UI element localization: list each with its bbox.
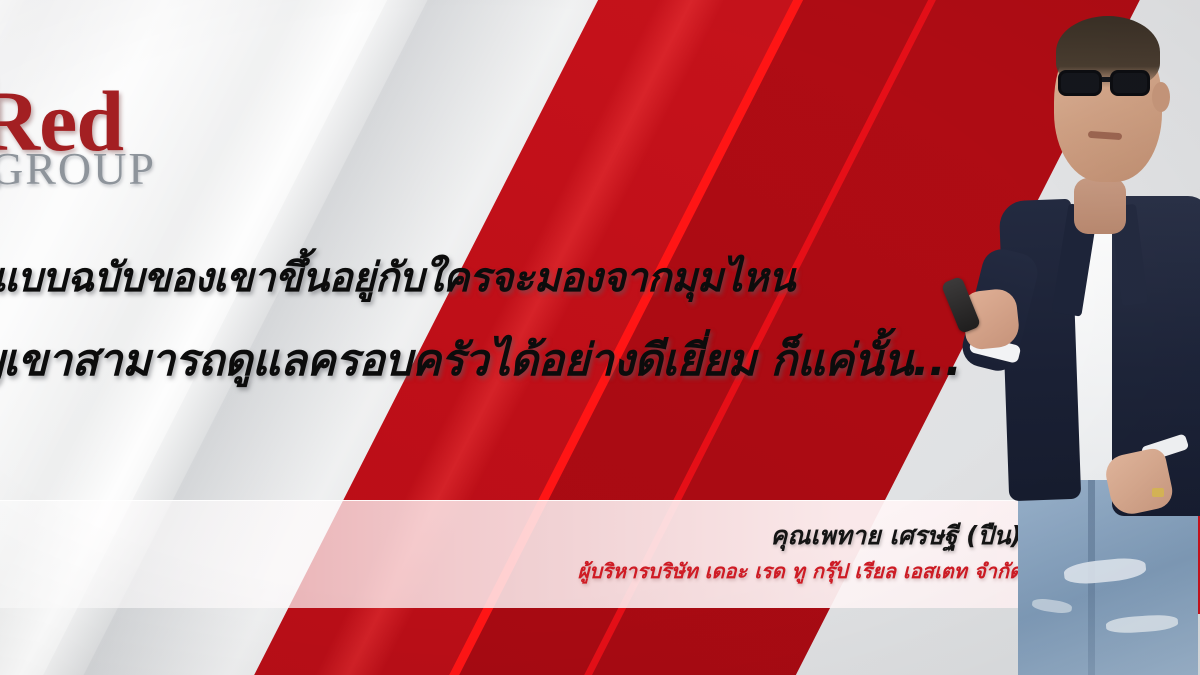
neck: [1074, 178, 1126, 234]
logo-word-group: GROUP: [0, 146, 156, 192]
brand-logo: 2 Red GROUP: [0, 6, 218, 196]
sunglasses-icon: [1056, 68, 1168, 98]
speaker-name: คุณเพทาย เศรษฐี (ปืน): [382, 520, 1022, 551]
quote-line-2-text: ญเขาสามารถดูแลครอบครัวได้อย่างดีเยี่ยม ก…: [0, 335, 961, 386]
quote-line-1: ทแบบฉบับของเขาขึ้นอยู่กับใครจะมองจากมุมไ…: [0, 258, 966, 300]
sunglass-lens: [1110, 70, 1150, 96]
promo-banner: 2 Red GROUP ทแบบฉบับของเขาขึ้นอยู่กับใคร…: [0, 0, 1200, 675]
quote-block: ทแบบฉบับของเขาขึ้นอยู่กับใครจะมองจากมุมไ…: [0, 258, 966, 386]
speaker-role: ผู้บริหารบริษัท เดอะ เรด ทู กรุ๊ป เรียล …: [382, 558, 1022, 584]
quote-line-2: ญเขาสามารถดูแลครอบครัวได้อย่างดีเยี่ยม ก…: [0, 328, 966, 386]
attribution-block: คุณเพทาย เศรษฐี (ปืน) ผู้บริหารบริษัท เด…: [382, 520, 1022, 584]
sunglass-lens: [1058, 70, 1102, 96]
ring: [1152, 488, 1164, 497]
person-photo: [956, 0, 1200, 675]
